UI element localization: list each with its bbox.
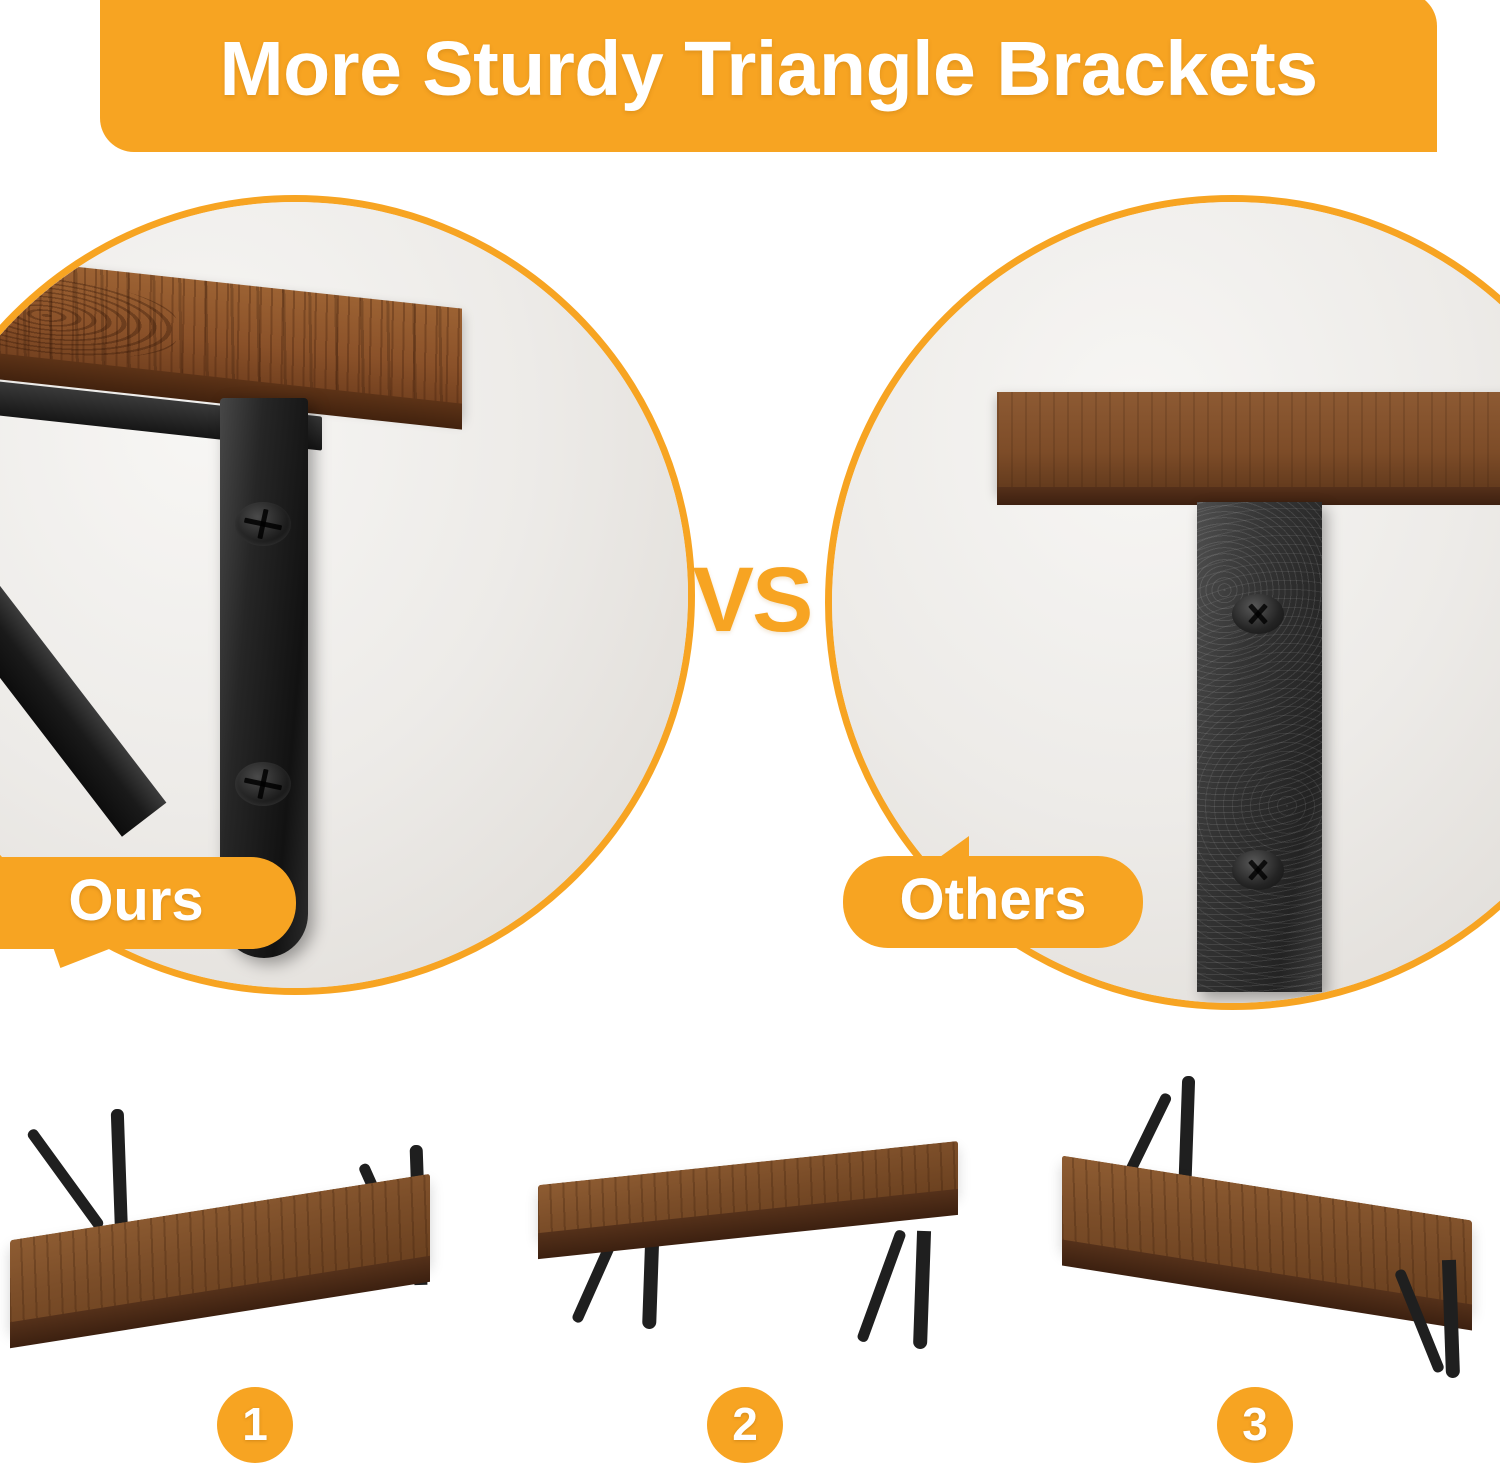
others-badge: Others	[843, 856, 1143, 948]
product-shelf-1	[0, 1075, 500, 1375]
wood-shelf-plank	[997, 392, 1500, 492]
product-number-badge-3: 3	[1217, 1387, 1293, 1463]
ours-badge: Ours	[0, 857, 296, 949]
screw-icon	[1232, 850, 1284, 890]
screw-icon	[1232, 594, 1284, 634]
product-number-badge-1: 1	[217, 1387, 293, 1463]
vs-label: VS	[672, 548, 832, 653]
screw-icon	[235, 762, 291, 806]
title-banner: More Sturdy Triangle Brackets	[100, 0, 1437, 152]
product-number-badge-2: 2	[707, 1387, 783, 1463]
page-title: More Sturdy Triangle Brackets	[219, 31, 1317, 114]
bracket-vertical-arm	[913, 1231, 931, 1349]
bracket-diagonal-brace	[26, 1127, 105, 1231]
flat-strap-bracket	[1197, 502, 1322, 992]
product-shelf-3	[1040, 1070, 1500, 1380]
screw-icon	[235, 502, 291, 546]
product-shelf-2	[520, 1135, 990, 1385]
bracket-diagonal-brace	[856, 1229, 907, 1344]
